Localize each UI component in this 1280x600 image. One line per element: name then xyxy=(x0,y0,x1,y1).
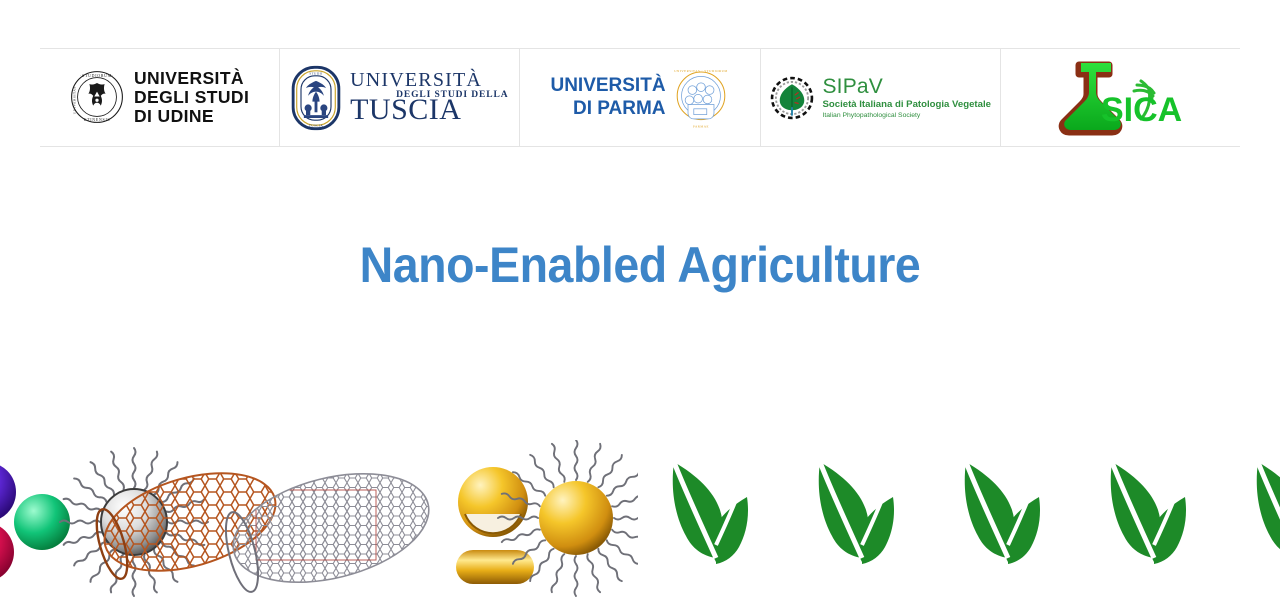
logo-sipav-line-1: SIPaV xyxy=(822,76,990,98)
page-title: Nano-Enabled Agriculture xyxy=(45,236,1235,294)
svg-text:UNIVERSITAS: UNIVERSITAS xyxy=(72,87,76,115)
seedling-icon xyxy=(1078,440,1230,600)
seedling-icon xyxy=(1224,440,1280,600)
nano-gold-shell xyxy=(458,467,528,537)
tuscia-seal-icon: STUDII TUSCIA xyxy=(291,65,341,131)
seedling-icon xyxy=(932,440,1084,600)
logo-sipav: SIPaV Società Italiana di Patologia Vege… xyxy=(769,75,990,121)
sica-wordmark: SICA xyxy=(1101,91,1182,129)
logo-tuscia: STUDII TUSCIA UNIVERSITÀ DEGLI STUDI DEL… xyxy=(291,65,508,131)
logo-sipav-text: SIPaV Società Italiana di Patologia Vege… xyxy=(822,76,990,119)
logo-udine-line-3: DI UDINE xyxy=(134,107,249,126)
page-root: ·STUDIORUM· UTINENSIS UNIVERSITAS UNIVER… xyxy=(0,0,1280,600)
logo-cell-udine[interactable]: ·STUDIORUM· UTINENSIS UNIVERSITAS UNIVER… xyxy=(40,49,280,146)
logo-sipav-line-3: Italian Phytopathological Society xyxy=(822,112,990,119)
nanomaterials-illustration xyxy=(0,440,638,600)
nano-gold-rod xyxy=(456,550,534,584)
logo-cell-parma[interactable]: UNIVERSITÀ DI PARMA UNIVERSITAS · STUDIO… xyxy=(520,49,760,146)
logo-tuscia-text: UNIVERSITÀ DEGLI STUDI DELLA TUSCIA xyxy=(350,70,508,125)
logo-sipav-line-2: Società Italiana di Patologia Vegetale xyxy=(822,100,990,110)
seedling-icon xyxy=(786,440,938,600)
logo-tuscia-line-1: UNIVERSITÀ xyxy=(350,70,508,90)
logo-parma-line-1: UNIVERSITÀ xyxy=(550,75,665,97)
parma-seal-icon: UNIVERSITAS · STUDIORUM PARMAE xyxy=(672,67,730,129)
partner-logo-bar: ·STUDIORUM· UTINENSIS UNIVERSITAS UNIVER… xyxy=(40,48,1240,147)
logo-parma-line-2: DI PARMA xyxy=(550,98,665,120)
logo-cell-sica[interactable]: SICA xyxy=(1001,49,1240,146)
svg-text:·STUDIORUM·: ·STUDIORUM· xyxy=(80,75,114,79)
logo-cell-sipav[interactable]: SIPaV Società Italiana di Patologia Vege… xyxy=(761,49,1001,146)
logo-cell-tuscia[interactable]: STUDII TUSCIA UNIVERSITÀ DEGLI STUDI DEL… xyxy=(280,49,520,146)
sipav-leaf-icon xyxy=(769,75,815,121)
sica-flask-icon: SICA xyxy=(1045,59,1195,137)
svg-text:PARMAE: PARMAE xyxy=(693,124,709,128)
logo-parma: UNIVERSITÀ DI PARMA UNIVERSITAS · STUDIO… xyxy=(550,67,729,129)
logo-udine: ·STUDIORUM· UTINENSIS UNIVERSITAS UNIVER… xyxy=(70,69,249,126)
logo-udine-line-1: UNIVERSITÀ xyxy=(134,69,249,88)
logo-udine-text: UNIVERSITÀ DEGLI STUDI DI UDINE xyxy=(134,69,249,126)
seedling-icon xyxy=(640,440,792,600)
svg-text:UTINENSIS: UTINENSIS xyxy=(84,118,111,122)
illustration-strip xyxy=(0,440,1280,600)
svg-text:UNIVERSITAS · STUDIORUM: UNIVERSITAS · STUDIORUM xyxy=(674,69,727,73)
logo-parma-text: UNIVERSITÀ DI PARMA xyxy=(550,75,665,120)
logo-udine-line-2: DEGLI STUDI xyxy=(134,88,249,107)
seedling-row xyxy=(640,440,1280,600)
svg-text:STUDII: STUDII xyxy=(309,71,322,75)
udine-seal-icon: ·STUDIORUM· UTINENSIS UNIVERSITAS xyxy=(70,70,124,124)
svg-text:TUSCIA: TUSCIA xyxy=(309,123,324,127)
nano-tube-multiwall xyxy=(219,455,456,600)
